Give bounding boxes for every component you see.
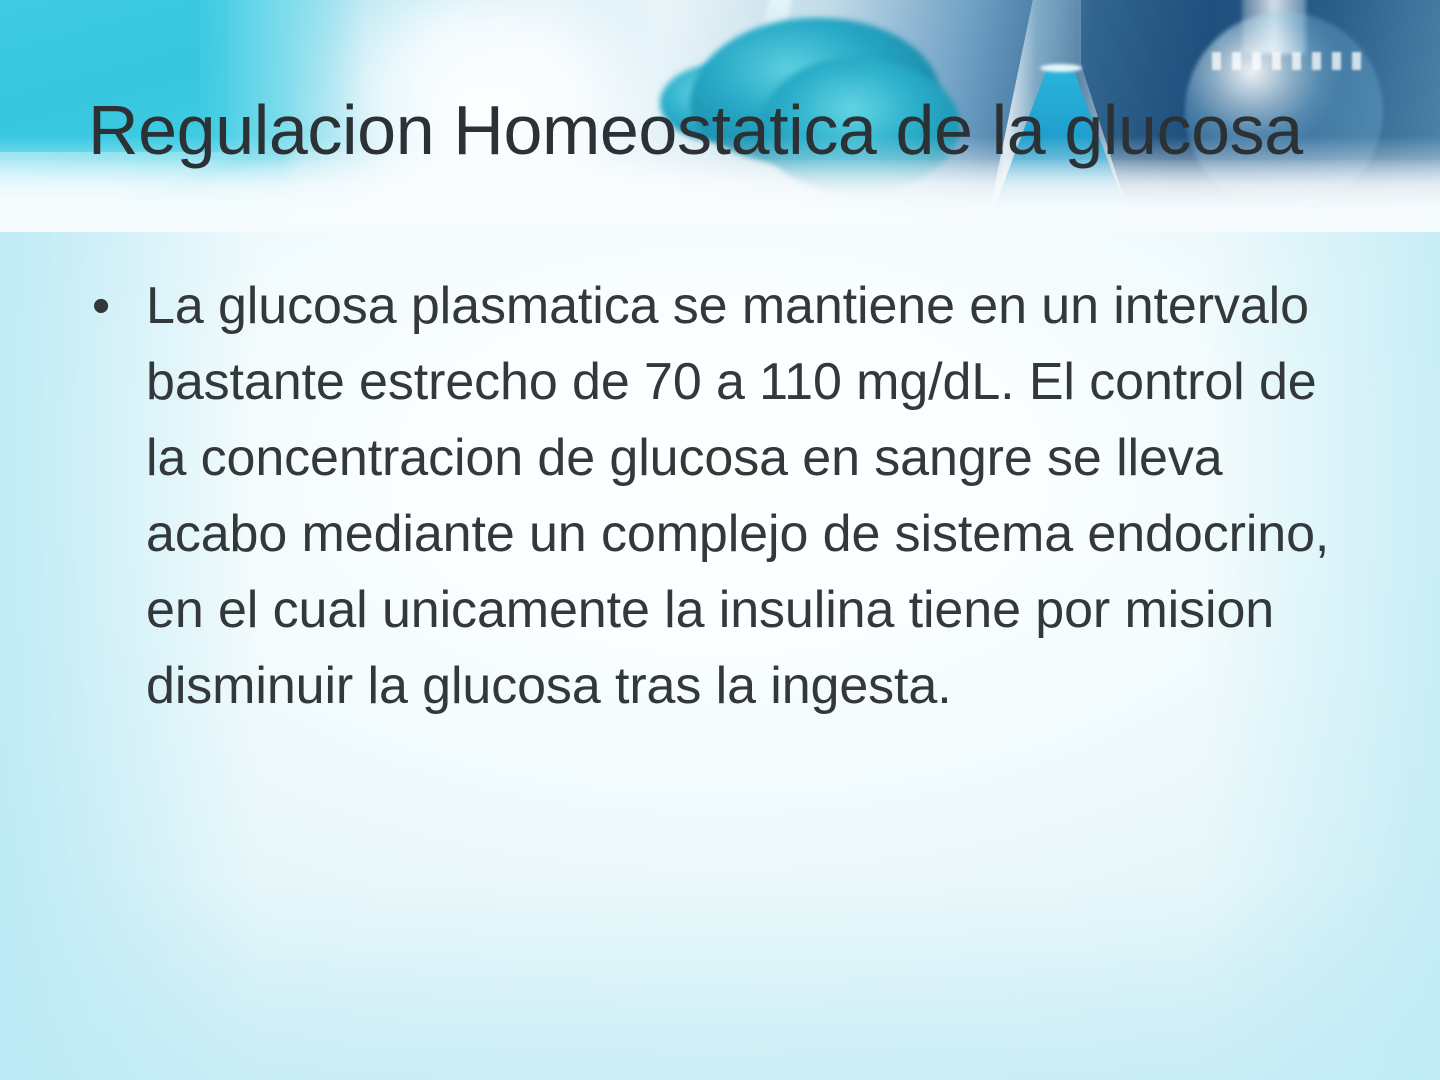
bullet-point-icon: • [88, 268, 146, 344]
background-bottom-tint [0, 880, 1440, 1080]
bullet-list-item: • La glucosa plasmatica se mantiene en u… [88, 268, 1358, 724]
slide-title: Regulacion Homeostatica de la glucosa [88, 88, 1378, 172]
photo-erlenmeyer-meniscus [1040, 64, 1082, 72]
bullet-paragraph-text: La glucosa plasmatica se mantiene en un … [146, 268, 1358, 724]
presentation-slide: Regulacion Homeostatica de la glucosa • … [0, 0, 1440, 1080]
slide-body: • La glucosa plasmatica se mantiene en u… [88, 268, 1358, 724]
photo-flask-graduation-marks [1212, 52, 1372, 70]
